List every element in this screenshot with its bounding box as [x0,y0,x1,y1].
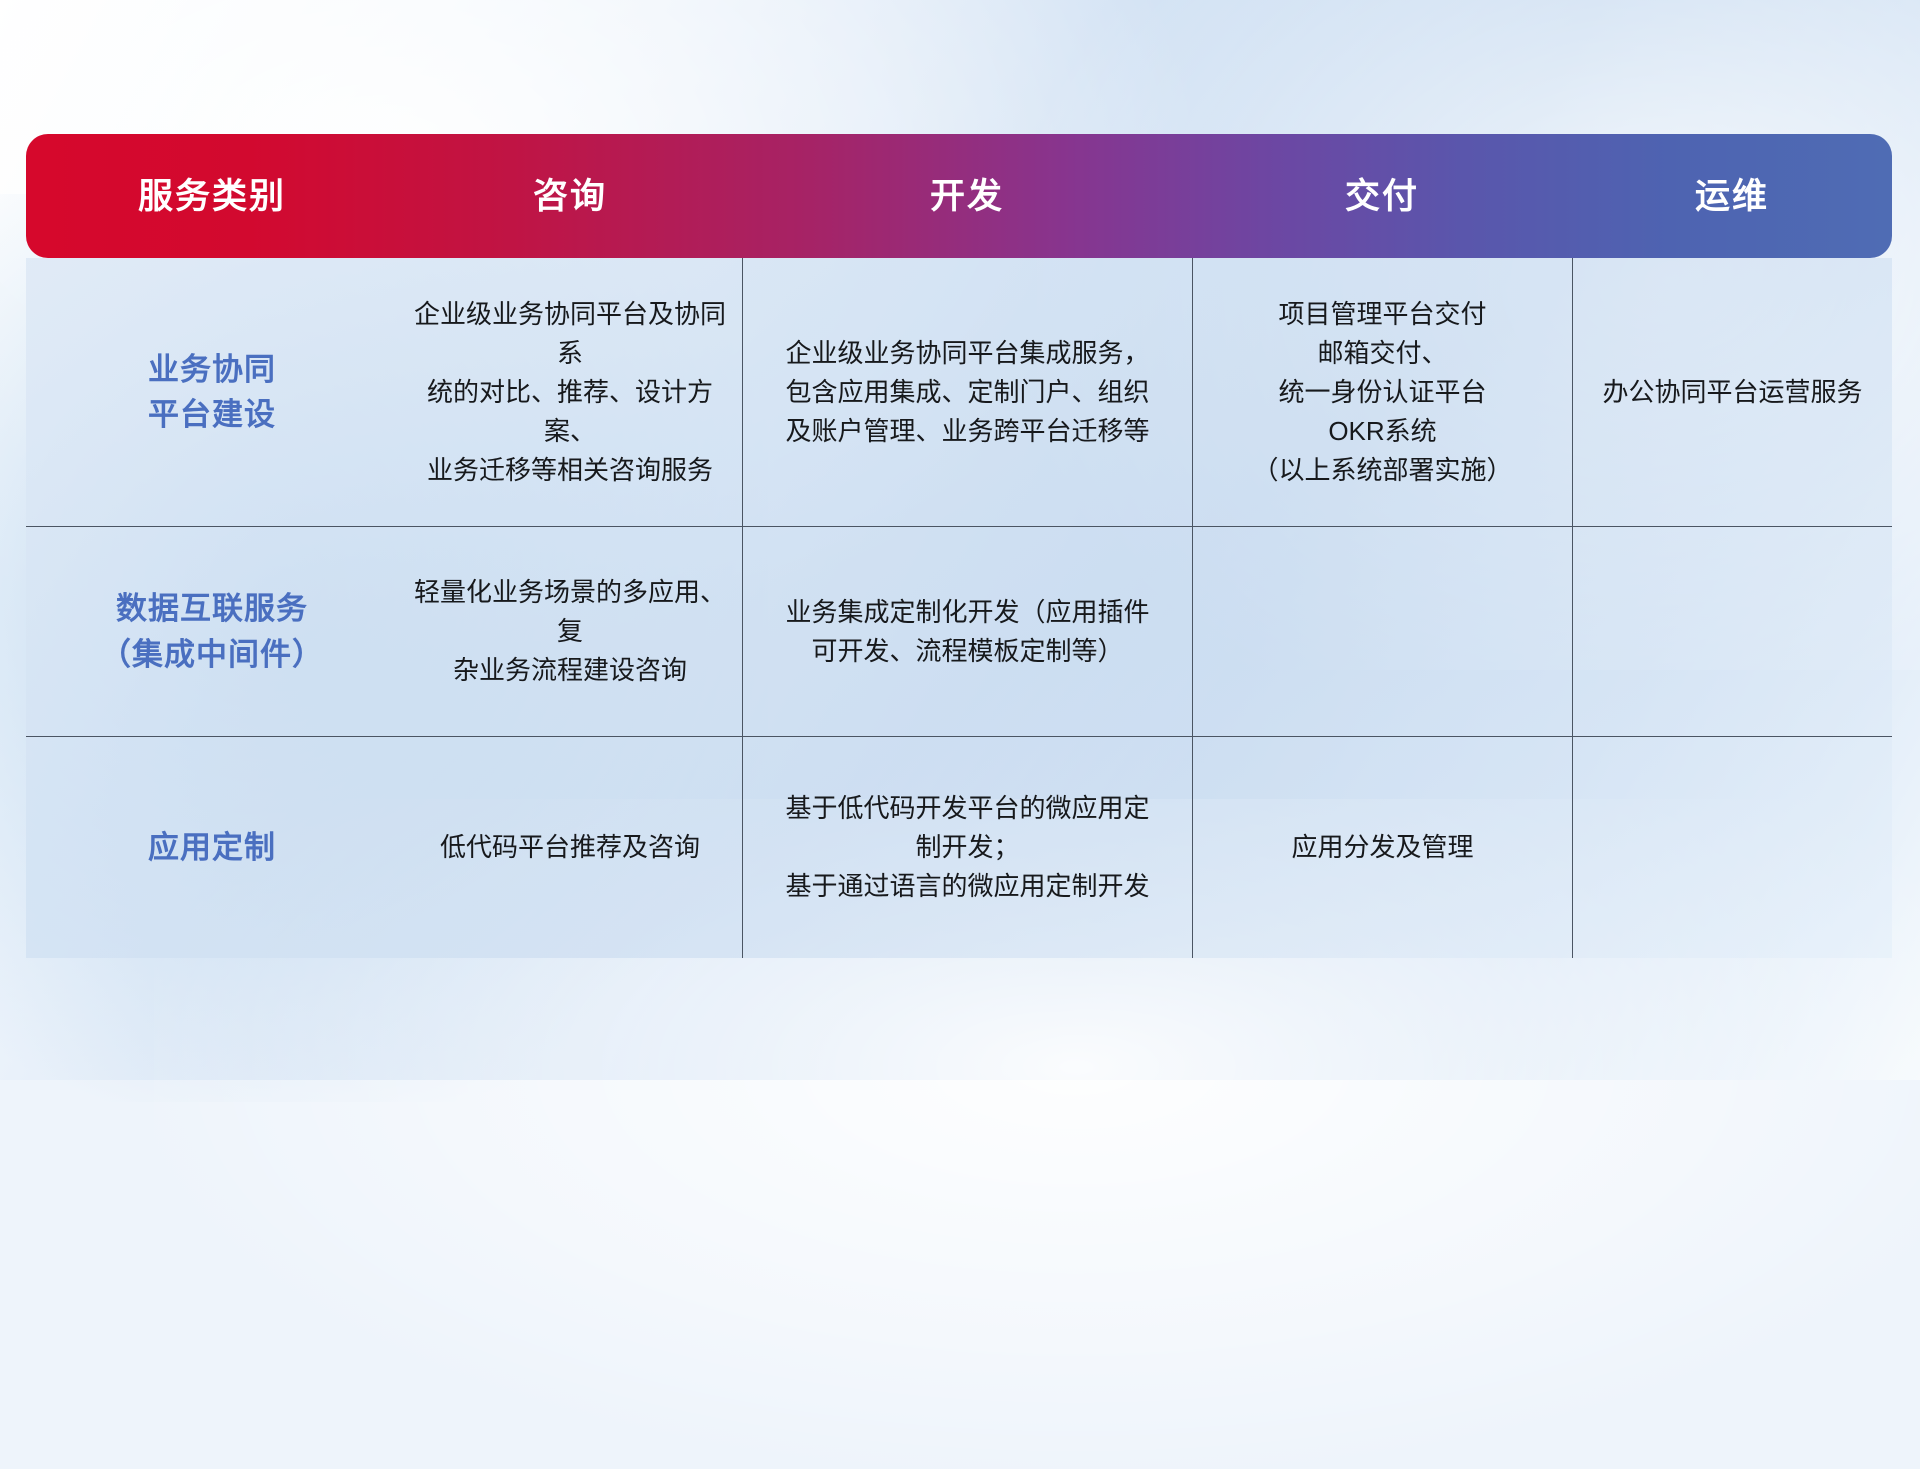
cell-operations: 办公协同平台运营服务 [1572,258,1892,526]
cell-development: 基于低代码开发平台的微应用定 制开发； 基于通过语言的微应用定制开发 [742,737,1192,958]
cell-development: 企业级业务协同平台集成服务， 包含应用集成、定制门户、组织 及账户管理、业务跨平… [742,258,1192,526]
cell-text: 应用分发及管理 [1291,828,1473,867]
column-header-development: 开发 [742,179,1192,214]
table-row: 数据互联服务 （集成中间件） 轻量化业务场景的多应用、复 杂业务流程建设咨询 业… [26,526,1892,736]
cell-delivery: 应用分发及管理 [1192,737,1572,958]
column-header-consulting: 咨询 [398,179,742,214]
cell-text: 项目管理平台交付 邮箱交付、 统一身份认证平台 OKR系统 （以上系统部署实施） [1252,295,1512,490]
cell-text: 企业级业务协同平台及协同系 统的对比、推荐、设计方案、 业务迁移等相关咨询服务 [412,295,728,490]
service-matrix-table: 服务类别 咨询 开发 交付 运维 业务协同 平台建设 企业级业务协同平台及协同系… [26,134,1892,958]
cell-text: 轻量化业务场景的多应用、复 杂业务流程建设咨询 [412,573,728,690]
table-row: 应用定制 低代码平台推荐及咨询 基于低代码开发平台的微应用定 制开发； 基于通过… [26,736,1892,958]
column-header-delivery: 交付 [1192,179,1572,214]
cell-development: 业务集成定制化开发（应用插件 可开发、流程模板定制等） [742,527,1192,736]
cell-text: 企业级业务协同平台集成服务， 包含应用集成、定制门户、组织 及账户管理、业务跨平… [785,334,1149,451]
cell-text: 低代码平台推荐及咨询 [440,828,700,867]
table-body: 业务协同 平台建设 企业级业务协同平台及协同系 统的对比、推荐、设计方案、 业务… [26,258,1892,958]
cell-delivery: 项目管理平台交付 邮箱交付、 统一身份认证平台 OKR系统 （以上系统部署实施） [1192,258,1572,526]
column-header-category: 服务类别 [26,179,398,214]
table-header-row: 服务类别 咨询 开发 交付 运维 [26,134,1892,258]
row-label-cell: 业务协同 平台建设 [26,258,398,526]
cell-operations [1572,527,1892,736]
row-label-cell: 应用定制 [26,737,398,958]
cell-consulting: 企业级业务协同平台及协同系 统的对比、推荐、设计方案、 业务迁移等相关咨询服务 [398,258,742,526]
row-label-cell: 数据互联服务 （集成中间件） [26,527,398,736]
cell-text: 业务集成定制化开发（应用插件 可开发、流程模板定制等） [785,593,1149,671]
cell-text: 基于低代码开发平台的微应用定 制开发； 基于通过语言的微应用定制开发 [785,789,1149,906]
row-label-text: 业务协同 平台建设 [148,347,276,438]
column-header-operations: 运维 [1572,179,1892,214]
cell-delivery [1192,527,1572,736]
cell-consulting: 轻量化业务场景的多应用、复 杂业务流程建设咨询 [398,527,742,736]
row-label-text: 应用定制 [148,825,276,870]
cell-consulting: 低代码平台推荐及咨询 [398,737,742,958]
row-label-text: 数据互联服务 （集成中间件） [100,586,324,677]
cell-operations [1572,737,1892,958]
table-row: 业务协同 平台建设 企业级业务协同平台及协同系 统的对比、推荐、设计方案、 业务… [26,258,1892,526]
cell-text: 办公协同平台运营服务 [1602,373,1862,412]
